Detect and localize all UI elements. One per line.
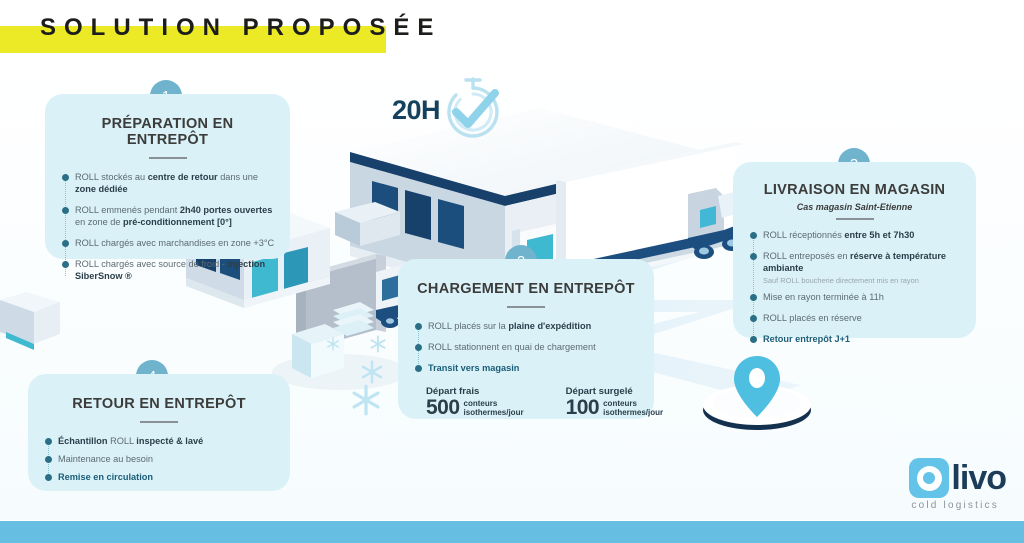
bullet-dot-icon bbox=[62, 174, 69, 181]
bullet-dot-icon bbox=[62, 240, 69, 247]
bullet-dot-icon bbox=[45, 438, 52, 445]
auxiliary-dock bbox=[0, 292, 60, 350]
bullet-dot-icon bbox=[750, 336, 757, 343]
bullet-text: ROLL placés sur la plaine d'expédition bbox=[428, 321, 591, 331]
bullet-item: ROLL chargés avec source de froid - inje… bbox=[59, 258, 276, 282]
card-step-2[interactable]: CHARGEMENT EN ENTREPÔT ROLL placés sur l… bbox=[398, 259, 654, 419]
bullet-dot-icon bbox=[750, 232, 757, 239]
bullet-dot-icon bbox=[415, 344, 422, 351]
bullet-text: ROLL emmenés pendant 2h40 portes ouverte… bbox=[75, 205, 272, 227]
bullet-item: ROLL placés en réserve bbox=[747, 312, 962, 324]
bullet-text: Remise en circulation bbox=[58, 472, 153, 482]
pallet-stack bbox=[305, 306, 365, 343]
bullet-item: ROLL chargés avec marchandises en zone +… bbox=[59, 237, 276, 249]
card-step-3-title: LIVRAISON EN MAGASIN bbox=[747, 182, 962, 198]
card-step-2-bullets: ROLL placés sur la plaine d'expédition R… bbox=[412, 320, 640, 374]
card-step-3[interactable]: LIVRAISON EN MAGASIN Cas magasin Saint-E… bbox=[733, 162, 976, 338]
bullet-item: Échantillon ROLL inspecté & lavé bbox=[42, 435, 276, 447]
bullet-text: ROLL réceptionnés entre 5h et 7h30 bbox=[763, 230, 914, 240]
logo-dot bbox=[923, 472, 935, 484]
bullet-dot-icon bbox=[62, 261, 69, 268]
card-step-4-title: RETOUR EN ENTREPÔT bbox=[42, 396, 276, 412]
bullet-text: ROLL placés en réserve bbox=[763, 313, 862, 323]
card-step-3-bullets: ROLL réceptionnés entre 5h et 7h30 ROLL … bbox=[747, 229, 962, 345]
logo-word: livo bbox=[951, 461, 1006, 495]
bullet-item: Maintenance au besoin bbox=[42, 453, 276, 465]
delivery-time-badge: 20H bbox=[392, 76, 506, 144]
title-divider bbox=[507, 306, 545, 308]
bullet-dot-icon bbox=[45, 456, 52, 463]
departure-stats: Départ frais 500 conteurs isothermes/jou… bbox=[412, 386, 640, 418]
bullet-text: Transit vers magasin bbox=[428, 363, 519, 373]
map-pin-icon bbox=[703, 356, 811, 430]
stat-value: 100 bbox=[566, 398, 600, 418]
logo-wordmark-row: livo bbox=[909, 458, 1006, 498]
title-divider bbox=[836, 218, 874, 220]
card-step-4[interactable]: RETOUR EN ENTREPÔT Échantillon ROLL insp… bbox=[28, 374, 290, 491]
olivo-logo[interactable]: livo cold logistics bbox=[909, 458, 1006, 511]
bullet-dot-icon bbox=[750, 294, 757, 301]
bullet-item: ROLL entreposés en réserve à température… bbox=[747, 250, 962, 285]
bullet-text: ROLL stockés au centre de retour dans un… bbox=[75, 172, 258, 194]
bullet-item: ROLL stationnent en quai de chargement bbox=[412, 341, 640, 353]
stopwatch-check-icon bbox=[440, 76, 506, 144]
bullet-item: ROLL réceptionnés entre 5h et 7h30 bbox=[747, 229, 962, 241]
bullet-dot-icon bbox=[750, 315, 757, 322]
bullet-dot-icon bbox=[45, 474, 52, 481]
bullet-dot-icon bbox=[415, 365, 422, 372]
stat-unit-line2: isothermes/jour bbox=[464, 408, 524, 417]
refrigerated-box-truck bbox=[272, 254, 418, 390]
stat-unit: conteurs isothermes/jour bbox=[464, 399, 524, 417]
stat-unit-line1: conteurs bbox=[464, 399, 498, 408]
bullet-text: ROLL stationnent en quai de chargement bbox=[428, 342, 596, 352]
stat-unit-line1: conteurs bbox=[603, 399, 637, 408]
infographic-canvas: SOLUTION PROPOSÉE 20H 1 PRÉPARATION EN E… bbox=[0, 0, 1024, 543]
container-lid-stack bbox=[333, 302, 374, 336]
olivo-o-mark-icon bbox=[909, 458, 949, 498]
snowflake-icon bbox=[328, 336, 385, 413]
stat-value: 500 bbox=[426, 398, 460, 418]
bullet-text: Mise en rayon terminée à 11h bbox=[763, 292, 884, 302]
bullet-item: ROLL placés sur la plaine d'expédition bbox=[412, 320, 640, 332]
stat-unit-line2: isothermes/jour bbox=[603, 408, 663, 417]
card-step-4-bullets: Échantillon ROLL inspecté & lavé Mainten… bbox=[42, 435, 276, 483]
bullet-dot-icon bbox=[62, 207, 69, 214]
timer-label: 20H bbox=[392, 95, 440, 126]
bullet-item: ROLL emmenés pendant 2h40 portes ouverte… bbox=[59, 204, 276, 228]
bullet-note: Sauf ROLL boucherie directement mis en r… bbox=[763, 276, 962, 285]
isothermal-container bbox=[292, 324, 344, 378]
bullet-dot-icon bbox=[750, 253, 757, 260]
bullet-text: Échantillon ROLL inspecté & lavé bbox=[58, 436, 203, 446]
stat-depart-frais: Départ frais 500 conteurs isothermes/jou… bbox=[426, 386, 524, 418]
bullet-item: ROLL stockés au centre de retour dans un… bbox=[59, 171, 276, 195]
bullet-item: Remise en circulation bbox=[42, 471, 276, 483]
card-step-3-subtitle: Cas magasin Saint-Etienne bbox=[747, 202, 962, 212]
bullet-item: Transit vers magasin bbox=[412, 362, 640, 374]
bullet-text: ROLL chargés avec marchandises en zone +… bbox=[75, 238, 274, 248]
footer-bar bbox=[0, 521, 1024, 543]
bullet-item: Mise en rayon terminée à 11h bbox=[747, 291, 962, 303]
card-step-2-title: CHARGEMENT EN ENTREPÔT bbox=[412, 281, 640, 297]
logo-tagline: cold logistics bbox=[911, 500, 999, 511]
bullet-text: Maintenance au besoin bbox=[58, 454, 153, 464]
stat-unit: conteurs isothermes/jour bbox=[603, 399, 663, 417]
bullet-dot-icon bbox=[415, 323, 422, 330]
title-divider bbox=[149, 157, 187, 159]
logo-ring bbox=[917, 466, 942, 491]
title-divider bbox=[140, 421, 178, 423]
bullet-text: Retour entrepôt J+1 bbox=[763, 334, 850, 344]
card-step-1-bullets: ROLL stockés au centre de retour dans un… bbox=[59, 171, 276, 282]
card-step-1[interactable]: PRÉPARATION EN ENTREPÔT ROLL stockés au … bbox=[45, 94, 290, 259]
bullet-item: Retour entrepôt J+1 bbox=[747, 333, 962, 345]
card-step-1-title: PRÉPARATION EN ENTREPÔT bbox=[59, 116, 276, 148]
bullet-text: ROLL entreposés en réserve à température… bbox=[763, 251, 962, 285]
page-title: SOLUTION PROPOSÉE bbox=[40, 14, 441, 42]
stat-depart-surgele: Départ surgelé 100 conteurs isothermes/j… bbox=[566, 386, 664, 418]
bullet-text: ROLL chargés avec source de froid - inje… bbox=[75, 259, 265, 281]
